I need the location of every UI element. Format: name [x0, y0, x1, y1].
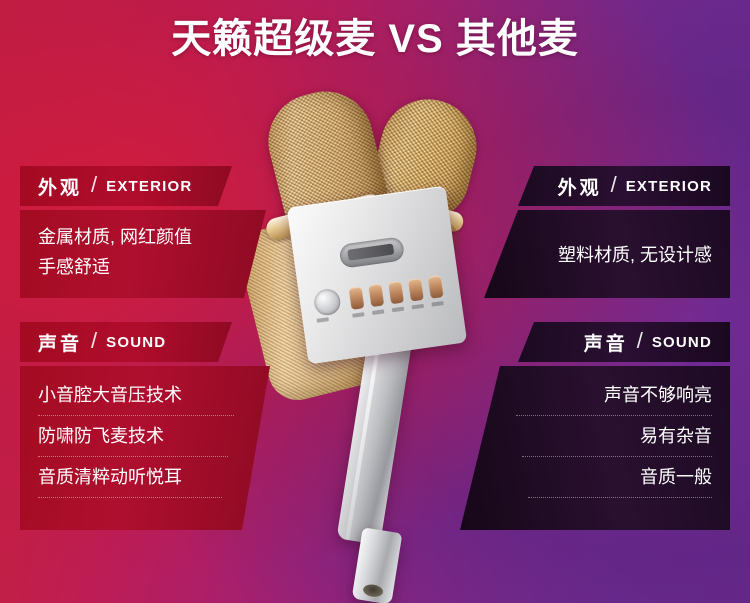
section-title-cn: 外观 [558, 173, 602, 200]
section-title-en: EXTERIOR [106, 178, 192, 195]
page-title: 天籁超级麦 VS 其他麦 [0, 14, 750, 64]
volume-knob-icon [313, 287, 342, 316]
feature-line: 易有杂音 [460, 421, 712, 451]
control-label [317, 317, 329, 323]
left-sound-header: 声音 / SOUND [20, 322, 232, 362]
separator-slash: / [91, 328, 97, 354]
left-sound-body: 小音腔大音压技术 防啸防飞麦技术 音质清粹动听悦耳 [20, 366, 270, 530]
feature-line: 塑料材质, 无设计感 [484, 240, 712, 270]
control-button [408, 278, 424, 302]
control-button [349, 286, 365, 310]
right-sound-body: 声音不够响亮 易有杂音 音质一般 [460, 366, 730, 530]
right-sound-header: 声音 / SOUND [518, 322, 730, 362]
control-label [372, 309, 384, 315]
right-exterior-body: 塑料材质, 无设计感 [484, 210, 730, 298]
separator-slash: / [611, 172, 617, 198]
feature-line: 手感舒适 [38, 252, 266, 282]
divider [516, 415, 712, 416]
section-title-en: SOUND [106, 334, 166, 351]
left-exterior-header: 外观 / EXTERIOR [20, 166, 232, 206]
feature-line: 金属材质, 网红颜值 [38, 222, 266, 252]
feature-line: 防啸防飞麦技术 [38, 421, 270, 451]
section-title-en: EXTERIOR [626, 178, 712, 195]
section-title-en: SOUND [652, 334, 712, 351]
divider [522, 456, 712, 457]
mic-control-panel [287, 186, 467, 365]
section-title-cn: 声音 [584, 329, 628, 356]
control-button [388, 281, 404, 305]
divider [38, 456, 228, 457]
control-button [428, 275, 444, 299]
separator-slash: / [91, 172, 97, 198]
left-exterior-body: 金属材质, 网红颜值 手感舒适 [20, 210, 266, 298]
section-title-cn: 声音 [38, 329, 82, 356]
comparison-infographic: 天籁超级麦 VS 其他麦 [0, 0, 750, 603]
control-label [352, 312, 364, 318]
feature-line: 小音腔大音压技术 [38, 380, 270, 410]
control-label [412, 304, 424, 310]
feature-line: 声音不够响亮 [460, 380, 712, 410]
feature-line: 音质一般 [460, 462, 712, 492]
separator-slash: / [637, 328, 643, 354]
control-label [392, 307, 404, 313]
section-title-cn: 外观 [38, 173, 82, 200]
right-exterior-header: 外观 / EXTERIOR [518, 166, 730, 206]
super-microphone-image [205, 78, 505, 598]
divider [528, 497, 712, 498]
divider [38, 415, 234, 416]
feature-line: 音质清粹动听悦耳 [38, 462, 270, 492]
control-button [368, 283, 384, 307]
display-screen-icon [338, 236, 405, 269]
divider [38, 497, 222, 498]
control-label [431, 301, 443, 307]
